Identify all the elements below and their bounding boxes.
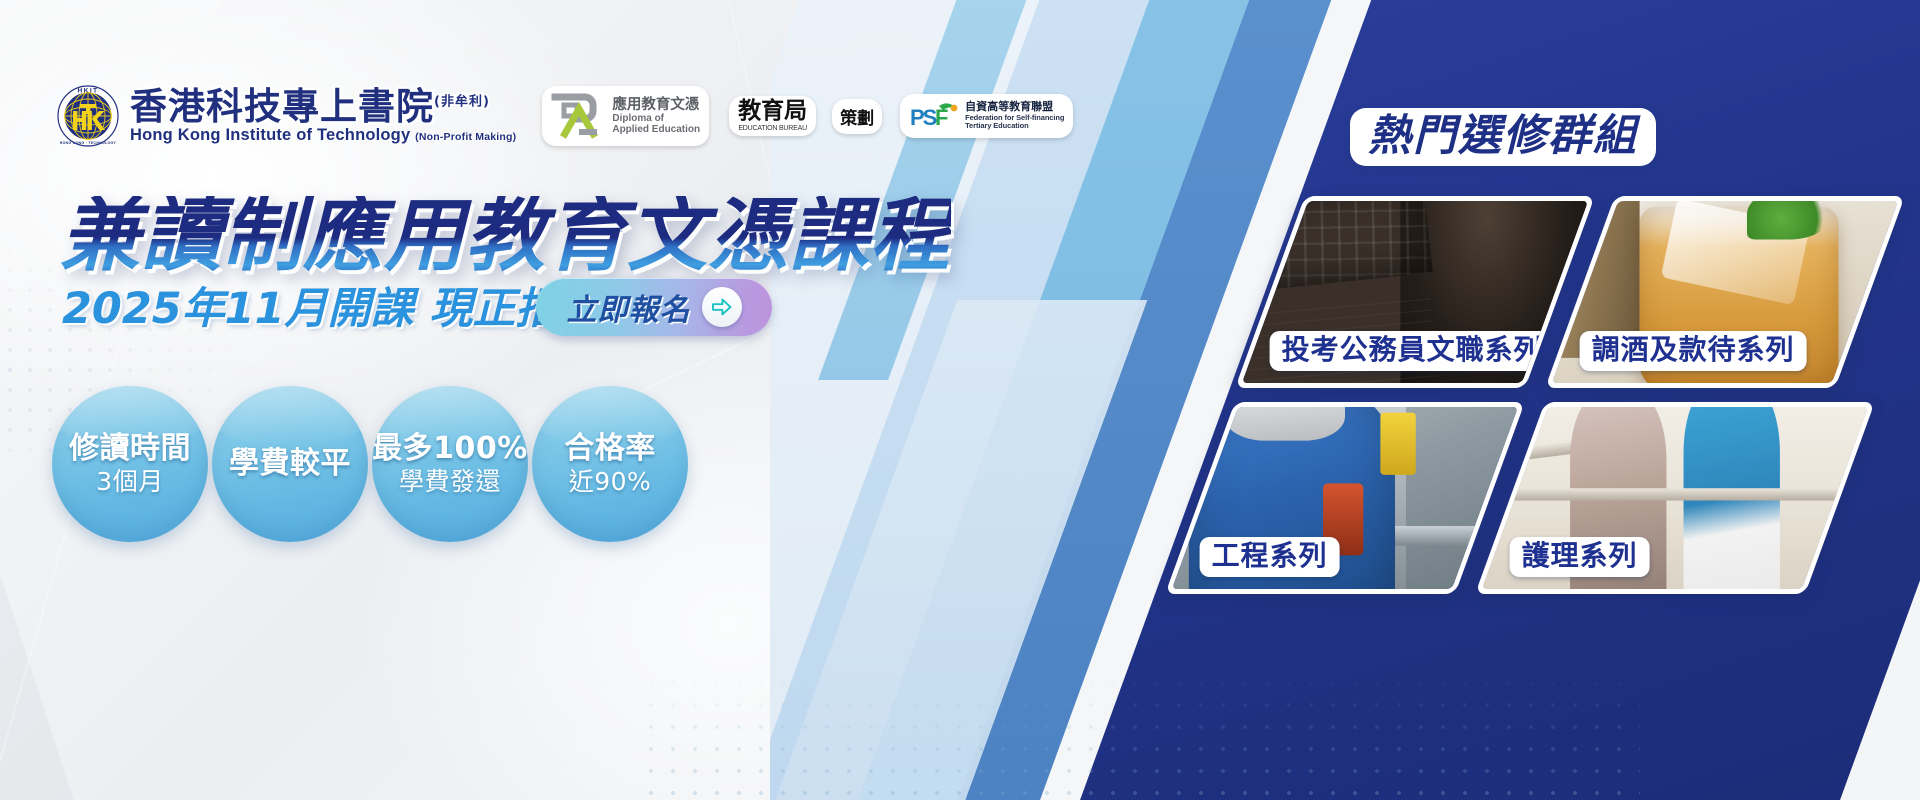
banner-stage: HKIT HONG KONG · TECHNOLOGY 香港科技專上書院(非牟利… bbox=[0, 0, 1920, 800]
elective-tile-nursing[interactable]: 護理系列 bbox=[1475, 402, 1875, 594]
elective-tile-civil-service[interactable]: 投考公務員文職系列 bbox=[1235, 196, 1595, 388]
feature-circle-group: 修讀時間 3個月 學費較平 最多100% 學費發還 合格率 近90% bbox=[52, 386, 688, 542]
elective-tile-caption: 投考公務員文職系列 bbox=[1269, 331, 1554, 371]
dae-label-cn: 應用教育文憑 bbox=[612, 97, 700, 113]
feature-value: 近90% bbox=[569, 468, 652, 496]
hero-subtitle-date: 2025年11月開課 bbox=[62, 284, 414, 334]
institute-name-cn-text: 香港科技專上書院 bbox=[130, 85, 434, 128]
feature-circle-tuition: 學費較平 bbox=[212, 386, 368, 542]
elective-tile-bartending[interactable]: 調酒及款待系列 bbox=[1545, 196, 1905, 388]
feature-circle-refund: 最多100% 學費發還 bbox=[372, 386, 528, 542]
arrow-right-icon bbox=[702, 287, 742, 327]
hero-subtitle: 2025年11月開課現正招生 bbox=[62, 288, 602, 331]
dae-label-en2: Applied Education bbox=[612, 124, 700, 135]
elective-tile-engineering[interactable]: 工程系列 bbox=[1165, 402, 1525, 594]
institute-name-en: Hong Kong Institute of Technology (Non-P… bbox=[130, 126, 516, 144]
institute-name-block: 香港科技專上書院(非牟利) Hong Kong Institute of Tec… bbox=[130, 88, 516, 145]
hkit-crest-icon: HKIT HONG KONG · TECHNOLOGY bbox=[56, 84, 120, 148]
photo-yellow-marker bbox=[1381, 413, 1417, 475]
dae-label-en1: Diploma of bbox=[612, 113, 700, 124]
feature-title: 合格率 bbox=[564, 433, 656, 465]
popular-electives-title: 熱門選修群組 bbox=[1350, 108, 1656, 166]
institute-name-en-text: Hong Kong Institute of Technology bbox=[130, 126, 410, 144]
dae-logo: 應用教育文憑 Diploma of Applied Education bbox=[542, 86, 709, 146]
institute-name-cn: 香港科技專上書院(非牟利) bbox=[130, 88, 516, 126]
feature-title: 修讀時間 bbox=[69, 433, 191, 465]
feature-circle-passrate: 合格率 近90% bbox=[532, 386, 688, 542]
svg-text:HKIT: HKIT bbox=[78, 88, 99, 95]
institute-name-cn-suffix: (非牟利) bbox=[434, 94, 490, 109]
svg-text:HONG KONG · TECHNOLOGY: HONG KONG · TECHNOLOGY bbox=[60, 141, 117, 145]
enroll-now-button[interactable]: 立即報名 bbox=[536, 278, 772, 336]
elective-tile-caption: 調酒及款待系列 bbox=[1579, 331, 1806, 371]
feature-title: 學費較平 bbox=[229, 449, 351, 479]
feature-value: 學費發還 bbox=[399, 468, 501, 496]
enroll-now-label: 立即報名 bbox=[567, 285, 691, 329]
feature-value: 3個月 bbox=[96, 468, 163, 496]
dae-text-block: 應用教育文憑 Diploma of Applied Education bbox=[612, 97, 700, 136]
institute-name-en-suffix: (Non-Profit Making) bbox=[415, 131, 516, 143]
feature-title: 最多100% bbox=[372, 433, 528, 465]
elective-tile-caption: 工程系列 bbox=[1199, 537, 1339, 577]
photo-walking-bar bbox=[1505, 489, 1845, 501]
photo-helmet bbox=[1224, 402, 1345, 441]
feature-circle-duration: 修讀時間 3個月 bbox=[52, 386, 208, 542]
right-content: 熱門選修群組 投考公務員文職系列 調酒及款待系列 bbox=[770, 0, 1920, 800]
elective-tile-caption: 護理系列 bbox=[1509, 537, 1649, 577]
dae-logo-icon bbox=[549, 91, 605, 141]
